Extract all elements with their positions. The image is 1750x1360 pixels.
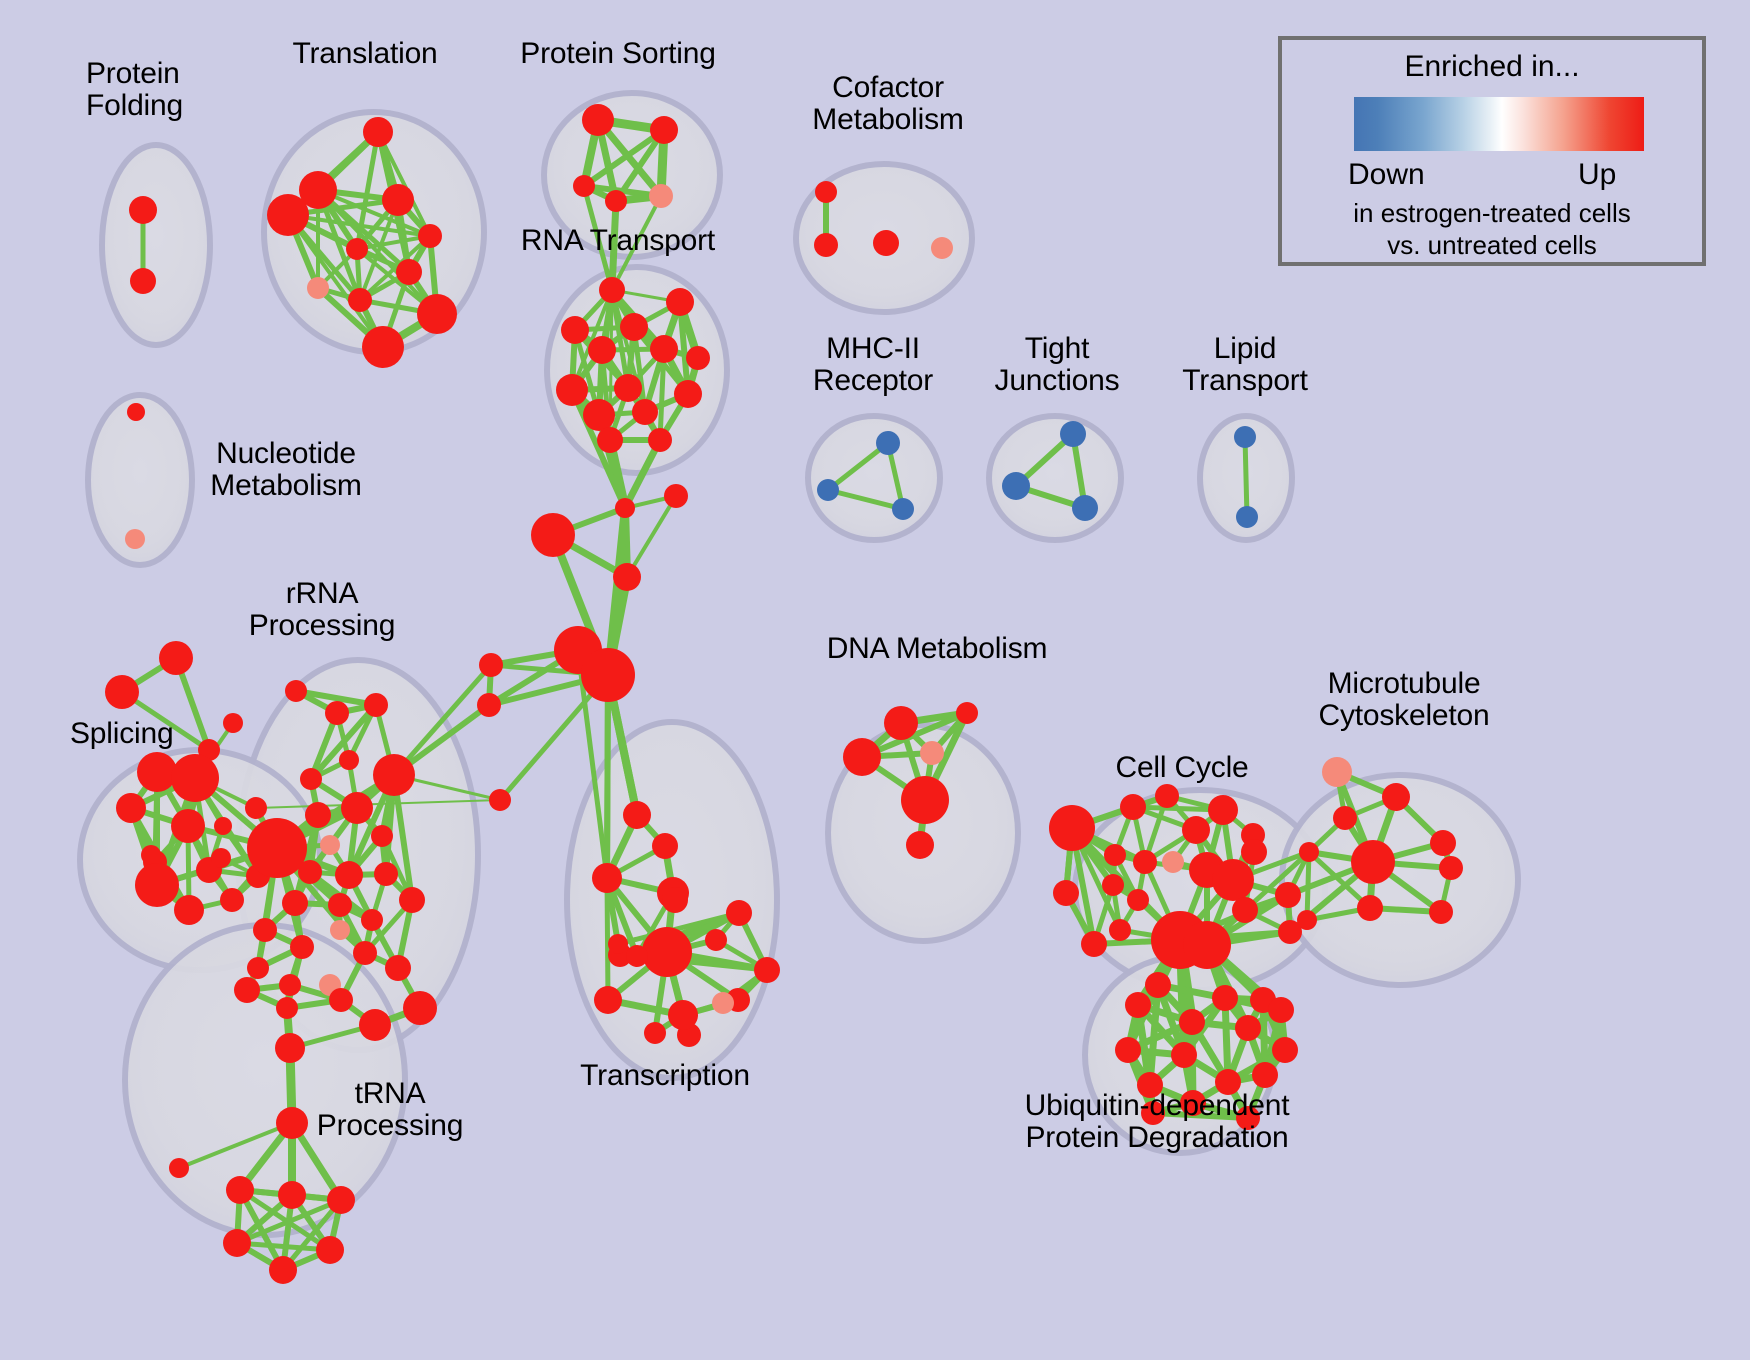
network-node[interactable] — [279, 974, 301, 996]
network-node[interactable] — [129, 196, 157, 224]
network-node[interactable] — [605, 190, 627, 212]
network-node[interactable] — [316, 1236, 344, 1264]
network-node[interactable] — [754, 957, 780, 983]
network-node[interactable] — [531, 513, 575, 557]
legend-caption-line-1: in estrogen-treated cells — [1282, 198, 1702, 229]
network-node[interactable] — [137, 752, 177, 792]
network-node[interactable] — [477, 693, 501, 717]
network-node[interactable] — [592, 863, 622, 893]
network-node[interactable] — [275, 1033, 305, 1063]
network-node[interactable] — [403, 991, 437, 1025]
network-node[interactable] — [348, 288, 372, 312]
network-node[interactable] — [652, 833, 678, 859]
network-node[interactable] — [169, 1158, 189, 1178]
network-node[interactable] — [1297, 910, 1317, 930]
network-node[interactable] — [382, 184, 414, 216]
network-node[interactable] — [364, 693, 388, 717]
cluster-label-cell-cycle: Cell Cycle — [307, 752, 1750, 784]
network-node[interactable] — [1212, 859, 1254, 901]
network-node[interactable] — [253, 918, 277, 942]
network-node[interactable] — [329, 988, 353, 1012]
network-node[interactable] — [226, 1176, 254, 1204]
network-node[interactable] — [127, 403, 145, 421]
network-node[interactable] — [705, 929, 727, 951]
network-node[interactable] — [1241, 839, 1267, 865]
network-node[interactable] — [105, 675, 139, 709]
network-node[interactable] — [608, 934, 628, 954]
network-node[interactable] — [374, 862, 398, 886]
network-node[interactable] — [1232, 897, 1258, 923]
network-node[interactable] — [325, 701, 349, 725]
network-node[interactable] — [1127, 889, 1149, 911]
legend-high-label: Up — [1578, 158, 1616, 192]
network-node[interactable] — [399, 887, 425, 913]
network-node[interactable] — [1212, 985, 1238, 1011]
network-node[interactable] — [417, 294, 457, 334]
network-node[interactable] — [644, 1022, 666, 1044]
network-node[interactable] — [583, 399, 615, 431]
network-node[interactable] — [285, 680, 307, 702]
network-node[interactable] — [666, 288, 694, 316]
network-node[interactable] — [1133, 850, 1157, 874]
network-node[interactable] — [712, 992, 734, 1014]
network-node[interactable] — [1439, 856, 1463, 880]
network-node[interactable] — [307, 277, 329, 299]
network-node[interactable] — [1179, 1009, 1205, 1035]
network-node[interactable] — [489, 789, 511, 811]
cluster-label-dna-metabolism: DNA Metabolism — [62, 633, 1750, 665]
network-node[interactable] — [135, 863, 179, 907]
network-node[interactable] — [174, 895, 204, 925]
network-node[interactable] — [223, 713, 243, 733]
legend-panel: Enriched in... Down Up in estrogen-treat… — [1278, 36, 1706, 266]
edge — [1245, 437, 1247, 517]
network-node[interactable] — [141, 845, 161, 865]
network-node[interactable] — [1430, 830, 1456, 856]
network-node[interactable] — [298, 860, 322, 884]
network-node[interactable] — [573, 175, 595, 197]
cluster-label-microtubule-cytoskeleton: Microtubule Cytoskeleton — [529, 668, 1750, 733]
network-node[interactable] — [245, 797, 267, 819]
network-node[interactable] — [320, 835, 340, 855]
network-node[interactable] — [1109, 919, 1131, 941]
network-node[interactable] — [1104, 844, 1126, 866]
network-node[interactable] — [353, 941, 377, 965]
network-node[interactable] — [223, 1229, 251, 1257]
network-node[interactable] — [327, 1186, 355, 1214]
network-node[interactable] — [1102, 874, 1124, 896]
cluster-label-protein-sorting: Protein Sorting — [0, 38, 1493, 70]
network-node[interactable] — [1275, 882, 1301, 908]
network-node[interactable] — [276, 997, 298, 1019]
network-node[interactable] — [1268, 997, 1294, 1023]
cluster-label-splicing: Splicing — [70, 718, 173, 750]
network-node[interactable] — [626, 945, 648, 967]
network-node[interactable] — [330, 920, 350, 940]
cluster-label-rna-transport: RNA Transport — [0, 225, 1493, 257]
network-node[interactable] — [726, 900, 752, 926]
legend-title: Enriched in... — [1282, 50, 1702, 84]
legend-caption-line-2: vs. untreated cells — [1282, 230, 1702, 261]
network-node[interactable] — [278, 1181, 306, 1209]
network-node[interactable] — [341, 792, 373, 824]
network-node[interactable] — [171, 754, 219, 802]
cluster-label-transcription: Transcription — [0, 1060, 1540, 1092]
network-node[interactable] — [1183, 921, 1231, 969]
network-node[interactable] — [335, 861, 363, 889]
network-node[interactable] — [1155, 784, 1179, 808]
network-node[interactable] — [1162, 851, 1184, 873]
network-node[interactable] — [385, 955, 411, 981]
network-node[interactable] — [1382, 783, 1410, 811]
network-node[interactable] — [1053, 880, 1079, 906]
cluster-label-nucleotide-metabolism: Nucleotide Metabolism — [0, 438, 1161, 503]
network-node[interactable] — [1125, 992, 1151, 1018]
network-node[interactable] — [1235, 1015, 1261, 1041]
network-node[interactable] — [247, 957, 269, 979]
network-node[interactable] — [328, 893, 352, 917]
network-node[interactable] — [599, 277, 625, 303]
network-node[interactable] — [269, 1256, 297, 1284]
network-node[interactable] — [1120, 794, 1146, 820]
network-node[interactable] — [906, 831, 934, 859]
network-node[interactable] — [1208, 795, 1238, 825]
network-node[interactable] — [234, 977, 260, 1003]
network-node[interactable] — [1145, 972, 1171, 998]
network-node[interactable] — [1429, 900, 1453, 924]
legend-color-gradient — [1354, 97, 1644, 151]
network-node[interactable] — [1049, 805, 1095, 851]
network-node[interactable] — [305, 802, 331, 828]
network-node[interactable] — [815, 181, 837, 203]
edge — [1307, 852, 1309, 920]
network-node[interactable] — [1234, 426, 1256, 448]
network-node[interactable] — [247, 818, 307, 878]
network-node[interactable] — [1357, 895, 1383, 921]
cluster-label-ubiquitin-protein-degradation: Ubiquitin-dependent Protein Degradation — [282, 1090, 1750, 1155]
network-node[interactable] — [1182, 816, 1210, 844]
network-node[interactable] — [130, 268, 156, 294]
network-node[interactable] — [171, 809, 205, 843]
enrichment-map-figure: Protein FoldingTranslationProtein Sortin… — [0, 0, 1750, 1360]
edge — [607, 878, 608, 1000]
network-node[interactable] — [649, 184, 673, 208]
network-node[interactable] — [125, 529, 145, 549]
network-node[interactable] — [1081, 931, 1107, 957]
network-node[interactable] — [220, 888, 244, 912]
network-node[interactable] — [1351, 840, 1395, 884]
network-node[interactable] — [359, 1009, 391, 1041]
network-node[interactable] — [1299, 842, 1319, 862]
legend-low-label: Down — [1348, 158, 1425, 192]
network-node[interactable] — [642, 927, 692, 977]
network-node[interactable] — [396, 259, 422, 285]
network-node[interactable] — [632, 399, 658, 425]
network-node[interactable] — [214, 817, 232, 835]
network-node[interactable] — [594, 986, 622, 1014]
network-node[interactable] — [211, 848, 231, 868]
network-node[interactable] — [371, 825, 393, 847]
network-node[interactable] — [116, 793, 146, 823]
network-node[interactable] — [361, 909, 383, 931]
network-node[interactable] — [668, 1000, 698, 1030]
network-node[interactable] — [623, 801, 651, 829]
network-node[interactable] — [662, 887, 688, 913]
cluster-label-lipid-transport: Lipid Transport — [370, 333, 1750, 398]
network-node[interactable] — [290, 935, 314, 959]
network-node[interactable] — [1333, 806, 1357, 830]
network-node[interactable] — [282, 890, 308, 916]
network-node[interactable] — [1236, 506, 1258, 528]
